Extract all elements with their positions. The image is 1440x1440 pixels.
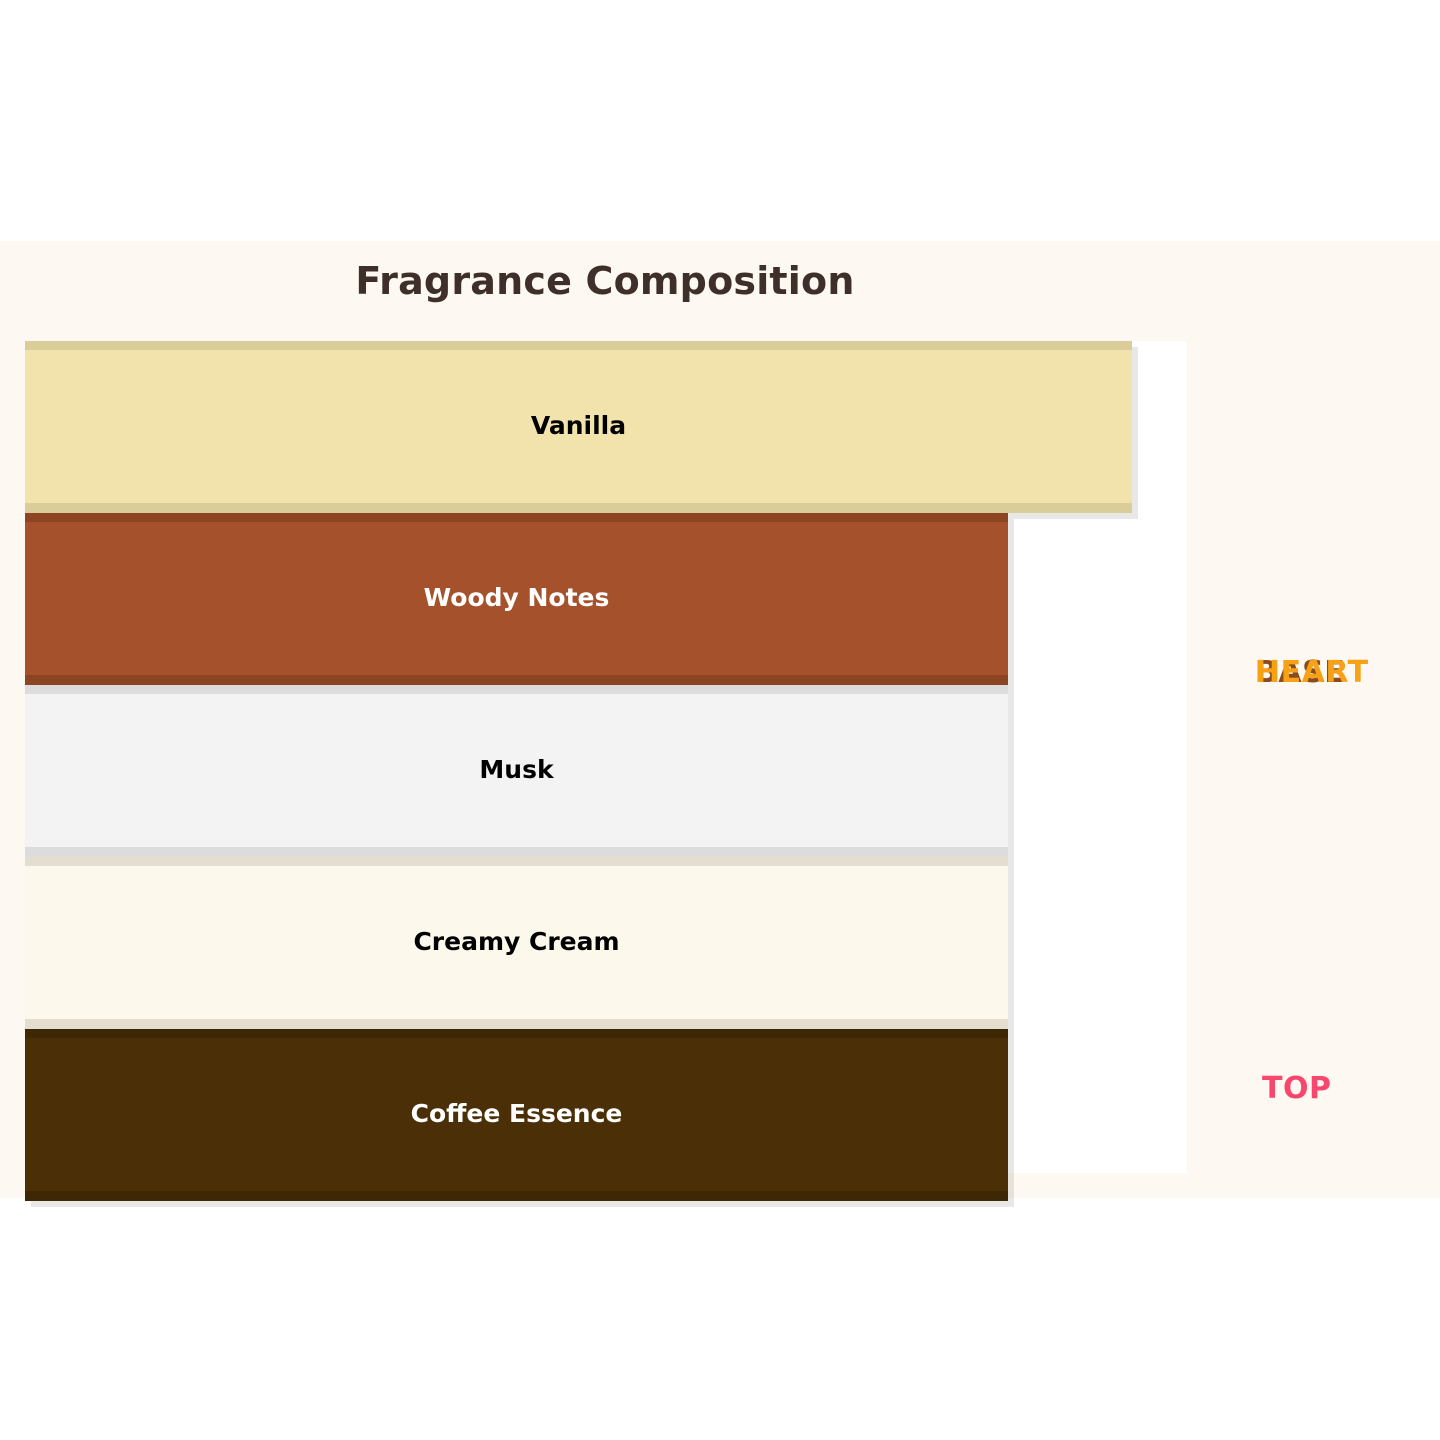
funnel-bar[interactable]: Vanilla <box>25 341 1132 513</box>
funnel-bar-label: Coffee Essence <box>25 1099 1008 1128</box>
funnel-bar[interactable]: Musk <box>25 685 1008 857</box>
funnel-bar-body: Musk <box>25 685 1008 857</box>
funnel-bar[interactable]: Creamy Cream <box>25 857 1008 1029</box>
funnel-bar-top-edge <box>25 857 1008 866</box>
funnel-bar-label: Vanilla <box>25 411 1132 440</box>
funnel-bar[interactable]: Coffee Essence <box>25 1029 1008 1201</box>
funnel-bar-label: Woody Notes <box>25 583 1008 612</box>
funnel-bar-top-edge <box>25 1029 1008 1038</box>
funnel-bar-label: Creamy Cream <box>25 927 1008 956</box>
funnel-bar-top-edge <box>25 685 1008 694</box>
funnel-bar-bottom-edge <box>25 675 1008 685</box>
funnel-bar-bottom-edge <box>25 1191 1008 1201</box>
stage-label-top: TOP <box>1262 1071 1331 1106</box>
funnel-bar-bottom-edge <box>25 1019 1008 1029</box>
funnel-bar-top-edge <box>25 341 1132 350</box>
funnel-bar-top-edge <box>25 513 1008 522</box>
funnel-bar-body: Coffee Essence <box>25 1029 1008 1201</box>
plot-panel: VanillaWoody NotesMuskCreamy CreamCoffee… <box>25 341 1187 1173</box>
stage-label-heart: HEART <box>1255 655 1369 690</box>
funnel-bar-bottom-edge <box>25 503 1132 513</box>
funnel-bar-body: Woody Notes <box>25 513 1008 685</box>
funnel-bar[interactable]: Woody Notes <box>25 513 1008 685</box>
chart-figure: Fragrance Composition VanillaWoody Notes… <box>0 241 1440 1198</box>
funnel-bar-body: Vanilla <box>25 341 1132 513</box>
funnel-bar-bottom-edge <box>25 847 1008 857</box>
funnel-bar-body: Creamy Cream <box>25 857 1008 1029</box>
chart-title: Fragrance Composition <box>0 259 1210 303</box>
funnel-bar-label: Musk <box>25 755 1008 784</box>
